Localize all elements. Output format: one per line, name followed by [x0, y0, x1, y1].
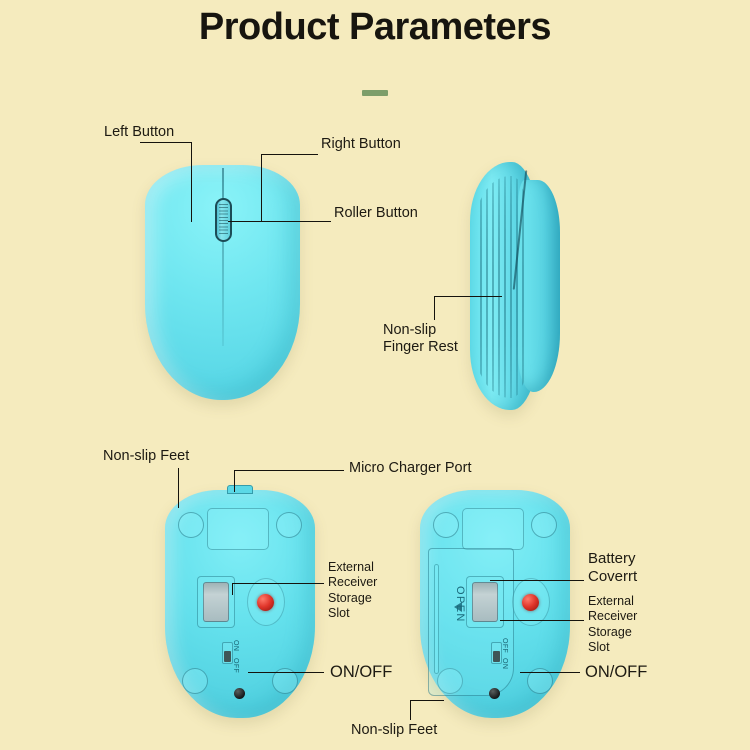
- label-receiver-slot-right: External Receiver Storage Slot: [588, 594, 637, 655]
- leader-right-button-h: [262, 154, 318, 155]
- leader-left-button-v: [191, 142, 192, 222]
- page-title: Product Parameters: [0, 6, 750, 49]
- label-finger-rest: Non-slip Finger Rest: [383, 322, 458, 356]
- leader-battery-cover-h: [490, 580, 584, 581]
- non-slip-foot: [531, 512, 557, 538]
- switch-label-on: ON: [501, 658, 508, 669]
- switch-label-off: OFF: [501, 638, 508, 653]
- non-slip-foot: [178, 512, 204, 538]
- non-slip-rib-texture: [474, 176, 532, 398]
- leader-charger-port-h: [234, 470, 344, 471]
- external-receiver-storage-slot: [203, 582, 229, 622]
- product-label-plate: [462, 508, 524, 550]
- label-non-slip-feet-top: Non-slip Feet: [103, 448, 189, 465]
- optical-sensor-led: [257, 594, 274, 611]
- label-right-button: Right Button: [321, 136, 401, 153]
- leader-receiver-slot-left-h: [232, 583, 324, 584]
- label-on-off-left: ON/OFF: [330, 663, 392, 682]
- switch-label-off: OFF: [232, 658, 239, 673]
- mouse-bottom-view-left: ON OFF: [165, 490, 315, 718]
- label-battery-cover: Battery Coverrt: [588, 550, 637, 585]
- label-receiver-slot-left: External Receiver Storage Slot: [328, 560, 377, 621]
- leader-on-off-right-h: [520, 672, 580, 673]
- mouse-button-split-line: [222, 168, 224, 346]
- leader-finger-rest-v: [434, 296, 435, 320]
- leader-roller-button-h: [228, 221, 331, 222]
- leader-non-slip-feet-top-v: [178, 468, 179, 508]
- external-receiver-storage-slot: [472, 582, 498, 622]
- product-infographic: Product Parameters Left Button Right But…: [0, 0, 750, 750]
- leader-charger-port-v: [234, 470, 235, 492]
- leader-non-slip-feet-bottom-v: [410, 700, 411, 720]
- label-roller-button: Roller Button: [334, 205, 418, 222]
- non-slip-foot: [433, 512, 459, 538]
- optical-sensor-led: [522, 594, 539, 611]
- battery-cover-groove: [434, 564, 439, 674]
- non-slip-foot: [276, 512, 302, 538]
- bottom-sensor-dot: [489, 688, 500, 699]
- leader-finger-rest-h: [434, 296, 502, 297]
- label-micro-charger-port: Micro Charger Port: [349, 460, 471, 477]
- product-label-plate: [207, 508, 269, 550]
- title-divider-rule: [362, 90, 388, 96]
- bottom-sensor-dot: [234, 688, 245, 699]
- mouse-bottom-view-right: OPEN OFF ON: [420, 490, 570, 718]
- label-non-slip-feet-bottom: Non-slip Feet: [351, 722, 437, 739]
- label-on-off-right: ON/OFF: [585, 663, 647, 682]
- switch-label-on: ON: [232, 640, 239, 651]
- leader-on-off-left-h: [248, 672, 324, 673]
- leader-non-slip-feet-bottom-h: [410, 700, 444, 701]
- micro-charger-port: [227, 485, 253, 494]
- open-direction-arrow-icon: [454, 602, 462, 612]
- leader-right-button-v: [261, 154, 262, 222]
- leader-receiver-slot-left-v: [232, 583, 233, 595]
- label-left-button: Left Button: [104, 124, 174, 141]
- scroll-wheel: [215, 198, 232, 242]
- leader-receiver-slot-right-h: [500, 620, 584, 621]
- non-slip-foot: [182, 668, 208, 694]
- leader-left-button-h: [140, 142, 192, 143]
